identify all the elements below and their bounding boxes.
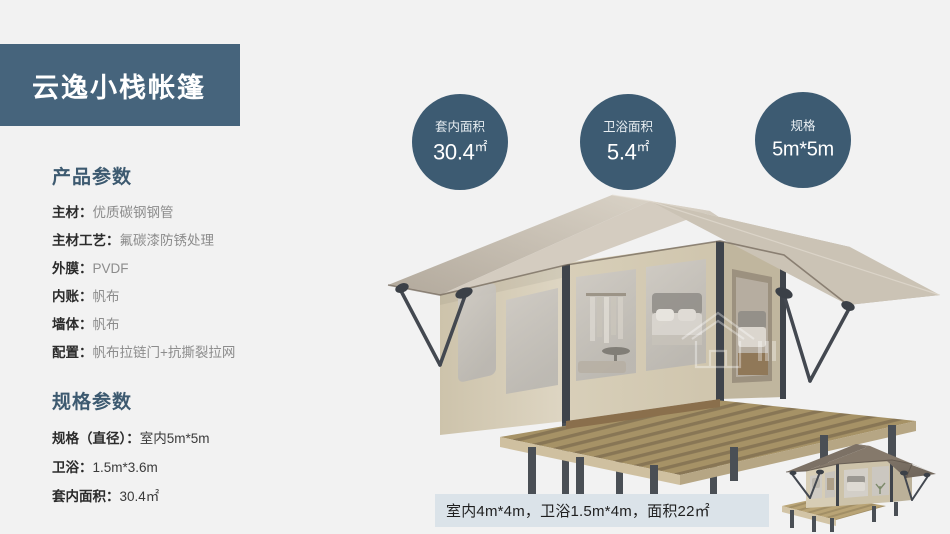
spec-value: 氟碳漆防锈处理 — [120, 233, 215, 248]
spec-value: 帆布 — [93, 317, 120, 332]
stat-circle-group: 套内面积 30.4㎡ 卫浴面积 5.4㎡ 规格 5m*5m — [410, 92, 860, 194]
stat-value: 5.4㎡ — [607, 141, 649, 163]
spec-value: 1.5m*3.6m — [93, 460, 158, 475]
page-title-block: 云逸小栈帐篷 — [0, 44, 240, 126]
spec-label: 内账： — [52, 289, 93, 304]
product-spec-page: 云逸小栈帐篷 产品参数 主材：优质碳钢钢管 主材工艺：氟碳漆防锈处理 外膜：PV… — [0, 0, 950, 534]
stat-circle-dimensions: 规格 5m*5m — [755, 92, 851, 188]
stat-caption: 卫浴面积 — [603, 121, 653, 134]
stat-circle-bathroom-area: 卫浴面积 5.4㎡ — [580, 94, 676, 190]
spec-row: 卫浴：1.5m*3.6m — [52, 453, 352, 482]
spec-value: 帆布拉链门+抗撕裂拉网 — [93, 345, 236, 360]
spec-label: 墙体： — [52, 317, 93, 332]
spec-row: 规格（直径）：室内5m*5m — [52, 424, 352, 453]
spec-value: 30.4㎡ — [120, 489, 160, 504]
spec-row: 墙体：帆布 — [52, 311, 352, 339]
spec-value: 帆布 — [93, 289, 120, 304]
stat-number: 5.4 — [607, 139, 637, 164]
stat-number: 30.4 — [433, 139, 475, 164]
stat-value: 5m*5m — [772, 139, 834, 160]
stat-value: 30.4㎡ — [433, 141, 487, 163]
spec-label: 外膜： — [52, 261, 93, 276]
caption-text: 室内4m*4m，卫浴1.5m*4m，面积22㎡ — [446, 500, 710, 521]
spec-value: PVDF — [93, 261, 129, 276]
spec-panel: 产品参数 主材：优质碳钢钢管 主材工艺：氟碳漆防锈处理 外膜：PVDF 内账：帆… — [52, 162, 352, 511]
section-heading-dimensions: 规格参数 — [52, 387, 352, 414]
stat-caption: 套内面积 — [435, 121, 485, 134]
spec-label: 配置： — [52, 345, 93, 360]
stat-caption: 规格 — [790, 120, 815, 133]
spec-row: 套内面积：30.4㎡ — [52, 482, 352, 511]
stat-number: 5m*5m — [772, 139, 834, 161]
stat-circle-interior-area: 套内面积 30.4㎡ — [412, 94, 508, 190]
page-title: 云逸小栈帐篷 — [24, 66, 206, 105]
spec-label: 卫浴： — [52, 460, 93, 475]
spec-value: 优质碳钢钢管 — [93, 205, 174, 220]
stat-unit: ㎡ — [475, 139, 487, 154]
spec-label: 套内面积： — [52, 489, 120, 504]
spec-value: 室内5m*5m — [140, 431, 210, 446]
spec-section-dimensions: 规格参数 规格（直径）：室内5m*5m 卫浴：1.5m*3.6m 套内面积：30… — [52, 387, 352, 511]
spec-label: 主材工艺： — [52, 233, 120, 248]
spec-label: 主材： — [52, 205, 93, 220]
stat-unit: ㎡ — [637, 139, 649, 154]
spec-row: 配置：帆布拉链门+抗撕裂拉网 — [52, 339, 352, 367]
section-heading-product: 产品参数 — [52, 162, 352, 189]
spec-row: 外膜：PVDF — [52, 255, 352, 283]
caption-bar: 室内4m*4m，卫浴1.5m*4m，面积22㎡ — [435, 494, 769, 527]
spec-row: 主材：优质碳钢钢管 — [52, 199, 352, 227]
spec-row: 主材工艺：氟碳漆防锈处理 — [52, 227, 352, 255]
spec-label: 规格（直径）： — [52, 431, 140, 446]
glamping-tent-thumbnail[interactable] — [768, 440, 950, 534]
spec-row: 内账：帆布 — [52, 283, 352, 311]
spec-section-product: 产品参数 主材：优质碳钢钢管 主材工艺：氟碳漆防锈处理 外膜：PVDF 内账：帆… — [52, 162, 352, 367]
